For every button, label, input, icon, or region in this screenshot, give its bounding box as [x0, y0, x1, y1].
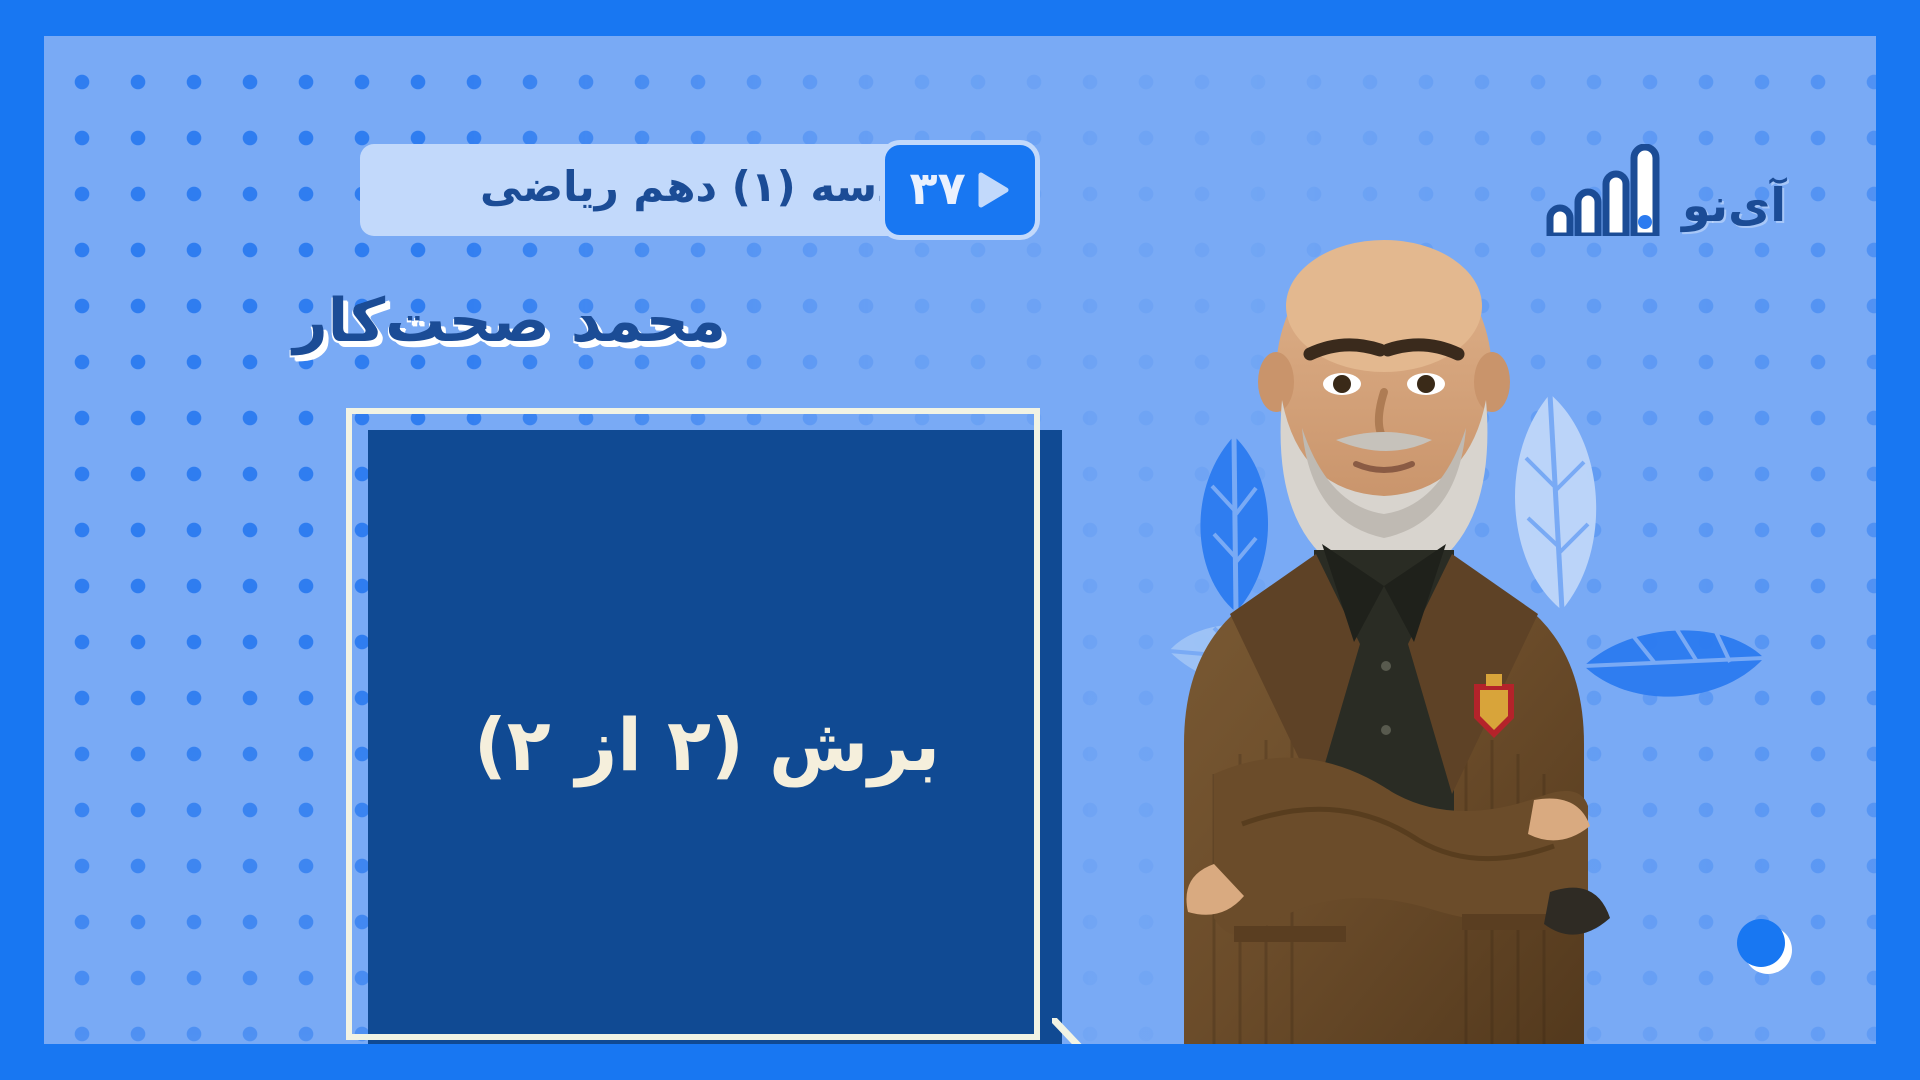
instructor-name: محمد صحت‌کار [293, 286, 726, 356]
episode-number: ۳۷ [910, 165, 966, 215]
brand-logo-text: آی‌نو [1682, 182, 1786, 236]
content-panel: هندسه (۱) دهم ریاضی ۳۷ محمد صحت‌کار برش … [44, 36, 1876, 1044]
ino-bars-logo-icon [1540, 144, 1668, 236]
circle-dot-icon [1734, 916, 1796, 978]
chevron-right-icon [1052, 1018, 1092, 1044]
card-outline-layer [346, 408, 1040, 1040]
course-title: هندسه (۱) دهم ریاضی [480, 166, 948, 214]
brand-logo[interactable]: آی‌نو [1540, 144, 1786, 236]
lesson-title-card: برش (۲ از ۲) [346, 408, 1062, 1044]
lesson-title-slide: هندسه (۱) دهم ریاضی ۳۷ محمد صحت‌کار برش … [0, 0, 1920, 1080]
header-row: هندسه (۱) دهم ریاضی ۳۷ [360, 144, 1040, 236]
play-triangle-icon [976, 172, 1010, 208]
episode-badge[interactable]: ۳۷ [880, 140, 1040, 240]
